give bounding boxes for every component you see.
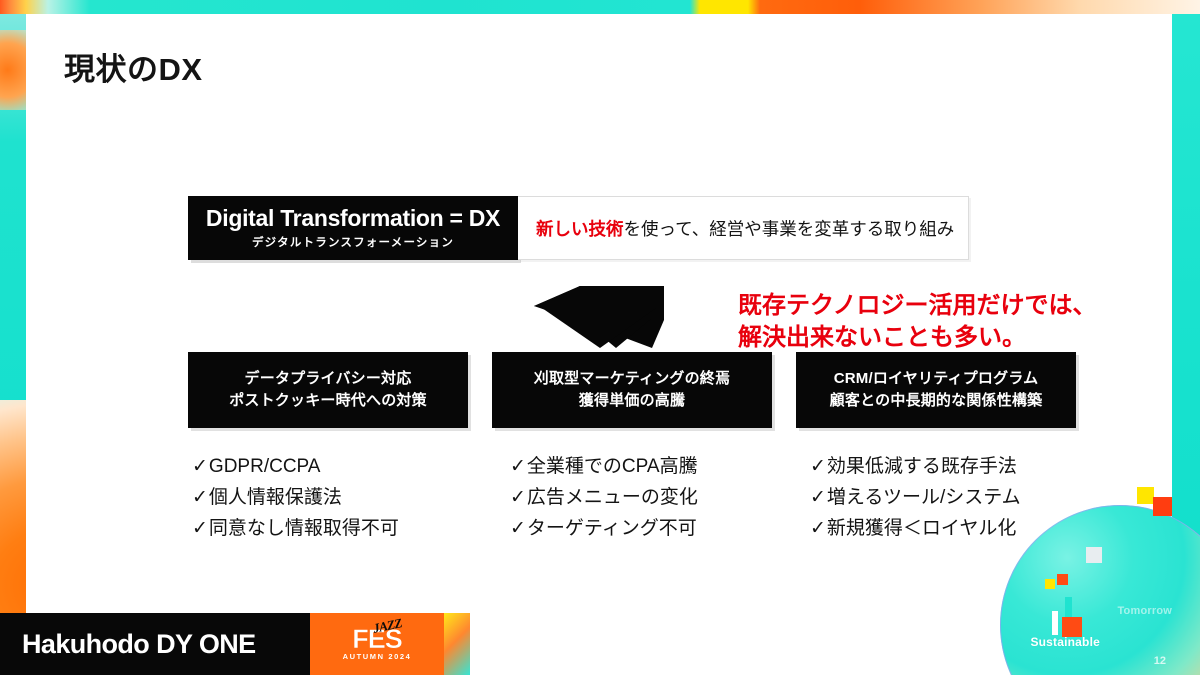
issue-column-1: データプライバシー対応 ポストクッキー時代への対策 ✓GDPR/CCPA ✓個人… bbox=[188, 352, 468, 544]
definition-description-highlight: 新しい技術 bbox=[536, 216, 624, 241]
check-icon: ✓ bbox=[810, 487, 826, 508]
list-item: ✓新規獲得＜ロイヤル化 bbox=[810, 514, 1076, 545]
issue-column-1-list: ✓GDPR/CCPA ✓個人情報保護法 ✓同意なし情報取得不可 bbox=[188, 452, 468, 544]
heading-line-2: 獲得単価の高騰 bbox=[579, 390, 685, 413]
definition-term-jp: デジタルトランスフォーメーション bbox=[252, 234, 454, 250]
list-item-label: 個人情報保護法 bbox=[209, 487, 342, 508]
decor-chip-small-red bbox=[1057, 574, 1068, 585]
issue-column-1-heading: データプライバシー対応 ポストクッキー時代への対策 bbox=[188, 352, 468, 428]
callout-warning: 既存テクノロジー活用だけでは、 解決出来ないことも多い。 bbox=[738, 290, 1097, 354]
list-item-label: 広告メニューの変化 bbox=[527, 487, 698, 508]
heading-line-1: データプライバシー対応 bbox=[245, 368, 412, 391]
check-icon: ✓ bbox=[192, 518, 208, 539]
heading-line-1: 刈取型マーケティングの終焉 bbox=[534, 368, 730, 391]
list-item-label: GDPR/CCPA bbox=[209, 456, 321, 477]
footer-brand-bar: Hakuhodo DY ONE bbox=[0, 613, 310, 675]
definition-term-en: Digital Transformation = DX bbox=[206, 206, 500, 230]
decor-chip-red bbox=[1153, 497, 1172, 516]
heading-line-1: CRM/ロイヤリティプログラム bbox=[834, 368, 1039, 391]
check-icon: ✓ bbox=[510, 487, 526, 508]
definition-description-rest: を使って、経営や事業を変革する取り組み bbox=[624, 216, 955, 241]
decor-chip-grey bbox=[1086, 547, 1102, 563]
check-icon: ✓ bbox=[810, 518, 826, 539]
list-item-label: 同意なし情報取得不可 bbox=[209, 518, 399, 539]
decor-top-gradient-strip bbox=[0, 0, 1200, 14]
issue-column-3-list: ✓効果低減する既存手法 ✓増えるツール/システム ✓新規獲得＜ロイヤル化 bbox=[796, 452, 1076, 544]
heading-line-2: 顧客との中長期的な関係性構築 bbox=[830, 390, 1043, 413]
decor-chip-orange bbox=[1062, 617, 1082, 637]
check-icon: ✓ bbox=[810, 456, 826, 477]
callout-line-2: 解決出来ないことも多い。 bbox=[738, 322, 1097, 354]
footer-event-logo: FES AUTUMN 2024 JAZZ bbox=[310, 613, 444, 675]
page-number: 12 bbox=[1154, 655, 1166, 667]
definition-term-box: Digital Transformation = DX デジタルトランスフォーメ… bbox=[188, 196, 518, 260]
list-item: ✓個人情報保護法 bbox=[192, 483, 468, 514]
decor-left-teal-bar bbox=[0, 14, 26, 469]
decor-chip-white bbox=[1052, 611, 1058, 635]
check-icon: ✓ bbox=[510, 456, 526, 477]
decor-chip-yellow bbox=[1137, 487, 1154, 504]
issue-column-2-heading: 刈取型マーケティングの終焉 獲得単価の高騰 bbox=[492, 352, 772, 428]
slide-content-card: 現状のDX Digital Transformation = DX デジタルトラ… bbox=[26, 14, 1172, 614]
list-item: ✓全業種でのCPA高騰 bbox=[510, 452, 772, 483]
list-item-label: 増えるツール/システム bbox=[827, 487, 1021, 508]
decor-word-tomorrow: Tomorrow bbox=[1117, 605, 1172, 617]
list-item-label: 新規獲得＜ロイヤル化 bbox=[827, 518, 1016, 539]
brand-logo-text: Hakuhodo DY ONE bbox=[22, 629, 256, 660]
check-icon: ✓ bbox=[510, 518, 526, 539]
list-item: ✓広告メニューの変化 bbox=[510, 483, 772, 514]
check-icon: ✓ bbox=[192, 456, 208, 477]
callout-line-1: 既存テクノロジー活用だけでは、 bbox=[738, 290, 1097, 322]
list-item: ✓同意なし情報取得不可 bbox=[192, 514, 468, 545]
decor-word-sustainable: Sustainable bbox=[1030, 635, 1100, 649]
heading-line-2: ポストクッキー時代への対策 bbox=[229, 390, 427, 413]
issue-column-2-list: ✓全業種でのCPA高騰 ✓広告メニューの変化 ✓ターゲティング不可 bbox=[492, 452, 772, 544]
decor-chip-small-yellow bbox=[1045, 579, 1055, 589]
decor-footer-gradient-tail bbox=[444, 613, 470, 675]
issue-column-3: CRM/ロイヤリティプログラム 顧客との中長期的な関係性構築 ✓効果低減する既存… bbox=[796, 352, 1076, 544]
issue-column-2: 刈取型マーケティングの終焉 獲得単価の高騰 ✓全業種でのCPA高騰 ✓広告メニュ… bbox=[492, 352, 772, 544]
arrow-down-icon bbox=[534, 286, 664, 348]
decor-right-teal-bar bbox=[1172, 14, 1200, 654]
definition-row: Digital Transformation = DX デジタルトランスフォーメ… bbox=[188, 196, 969, 260]
list-item-label: ターゲティング不可 bbox=[527, 518, 697, 539]
check-icon: ✓ bbox=[192, 487, 208, 508]
issue-column-3-heading: CRM/ロイヤリティプログラム 顧客との中長期的な関係性構築 bbox=[796, 352, 1076, 428]
list-item: ✓効果低減する既存手法 bbox=[810, 452, 1076, 483]
issue-columns: データプライバシー対応 ポストクッキー時代への対策 ✓GDPR/CCPA ✓個人… bbox=[188, 352, 1078, 544]
page-title: 現状のDX bbox=[64, 44, 203, 89]
list-item-label: 全業種でのCPA高騰 bbox=[527, 456, 698, 477]
list-item: ✓GDPR/CCPA bbox=[192, 452, 468, 483]
slide-canvas: 現状のDX Digital Transformation = DX デジタルトラ… bbox=[0, 0, 1200, 675]
definition-description: 新しい技術を使って、経営や事業を変革する取り組み bbox=[518, 196, 969, 260]
list-item: ✓増えるツール/システム bbox=[810, 483, 1076, 514]
list-item-label: 効果低減する既存手法 bbox=[827, 456, 1017, 477]
list-item: ✓ターゲティング不可 bbox=[510, 514, 772, 545]
fes-logo-mark: FES AUTUMN 2024 JAZZ bbox=[343, 627, 412, 662]
fes-logo-subtitle: AUTUMN 2024 bbox=[343, 652, 412, 661]
